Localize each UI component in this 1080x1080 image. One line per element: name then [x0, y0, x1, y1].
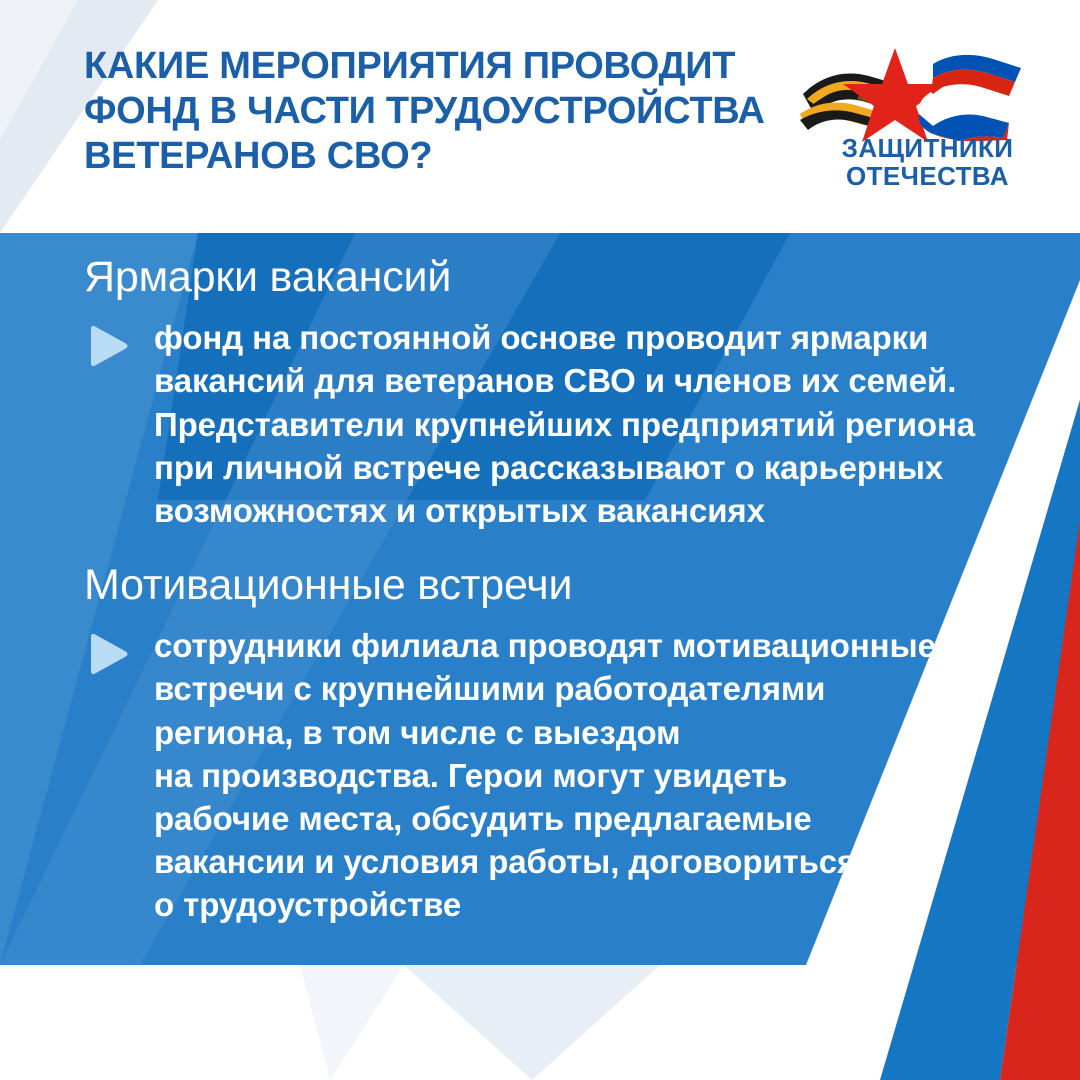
content-panel: Ярмарки вакансий фонд на постоянной осно… — [0, 233, 1080, 965]
bullet-text: фонд на постоянной основе проводит ярмар… — [154, 316, 984, 532]
logo-wordmark: ЗАЩИТНИКИ ОТЕЧЕСТВА — [795, 134, 1060, 190]
header: КАКИЕ МЕРОПРИЯТИЯ ПРОВОДИТ ФОНД В ЧАСТИ … — [0, 0, 1080, 233]
triangle-right-icon — [84, 632, 130, 676]
logo-mark — [795, 22, 1060, 142]
block-heading: Ярмарки вакансий — [84, 255, 984, 300]
triangle-right-icon — [84, 324, 130, 368]
bullet-row: фонд на постоянной основе проводит ярмар… — [84, 316, 984, 532]
panel-content: Ярмарки вакансий фонд на постоянной осно… — [0, 233, 1080, 965]
page-title: КАКИЕ МЕРОПРИЯТИЯ ПРОВОДИТ ФОНД В ЧАСТИ … — [84, 44, 784, 178]
bullet-row: сотрудники филиала проводят мотивационны… — [84, 624, 944, 927]
block-heading: Мотивационные встречи — [84, 563, 944, 608]
content-block-motivational-meetings: Мотивационные встречи сотрудники филиала… — [84, 563, 944, 927]
poster-canvas: КАКИЕ МЕРОПРИЯТИЯ ПРОВОДИТ ФОНД В ЧАСТИ … — [0, 0, 1080, 1080]
bullet-text: сотрудники филиала проводят мотивационны… — [154, 624, 944, 927]
logo[interactable]: ЗАЩИТНИКИ ОТЕЧЕСТВА — [795, 22, 1060, 197]
content-block-vacancy-fairs: Ярмарки вакансий фонд на постоянной осно… — [84, 255, 984, 532]
